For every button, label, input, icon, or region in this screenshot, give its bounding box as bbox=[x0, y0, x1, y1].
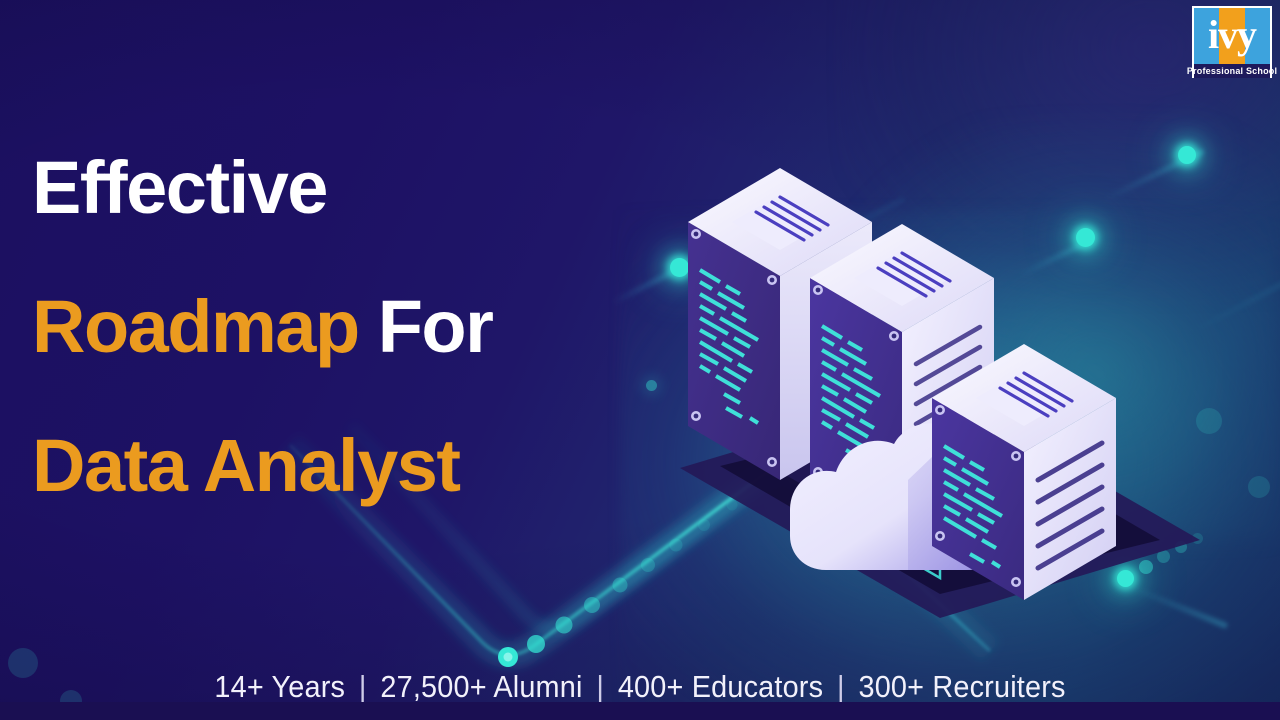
logo-wordmark: ivy bbox=[1194, 8, 1270, 64]
headline-line-3: Data Analyst bbox=[32, 396, 672, 535]
stat-separator-2: | bbox=[591, 669, 610, 704]
stat-separator-1: | bbox=[353, 669, 372, 704]
headline-line-2: Roadmap For bbox=[32, 257, 672, 396]
server-illustration bbox=[640, 150, 1240, 620]
logo-color-columns: ivy bbox=[1194, 8, 1270, 64]
page-title: Effective Roadmap For Data Analyst bbox=[32, 118, 672, 535]
headline-line-1: Effective bbox=[32, 118, 672, 257]
brand-logo[interactable]: ivy Professional School bbox=[1192, 6, 1272, 78]
logo-tagline: Professional School bbox=[1194, 64, 1270, 78]
stat-item-years: 14+ Years bbox=[214, 669, 345, 704]
headline-word-roadmap: Roadmap bbox=[32, 285, 359, 368]
stat-separator-3: | bbox=[831, 669, 850, 704]
stat-item-educators: 400+ Educators bbox=[618, 669, 823, 704]
headline-word-data-analyst: Data Analyst bbox=[32, 424, 460, 507]
stat-item-alumni: 27,500+ Alumni bbox=[380, 669, 582, 704]
stats-strip: 14+ Years | 27,500+ Alumni | 400+ Educat… bbox=[45, 671, 1235, 702]
banner-canvas: Effective Roadmap For Data Analyst 14+ Y… bbox=[0, 0, 1280, 720]
headline-word-for: For bbox=[378, 285, 493, 368]
bottom-band bbox=[0, 702, 1280, 720]
headline-word-effective: Effective bbox=[32, 146, 327, 229]
stat-item-recruiters: 300+ Recruiters bbox=[858, 669, 1065, 704]
server-rack-3 bbox=[932, 344, 1116, 600]
